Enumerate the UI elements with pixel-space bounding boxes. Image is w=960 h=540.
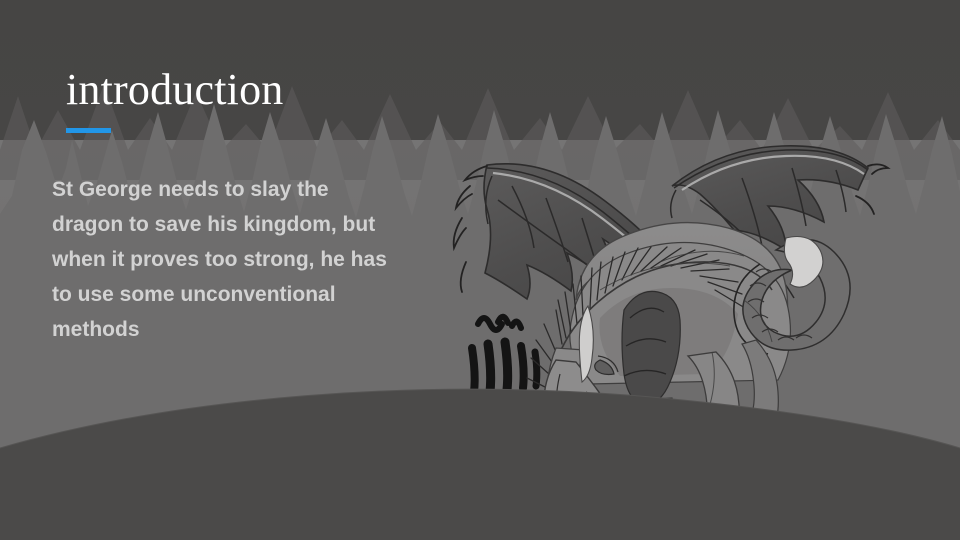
dragon-body: [526, 223, 790, 405]
sketch-scribble-marks: [472, 317, 548, 429]
rear-claws: [774, 436, 832, 464]
sketch-construction-lines: [566, 251, 772, 431]
horned-head: [544, 306, 618, 469]
dragon-legs: [514, 340, 832, 518]
horn: [579, 306, 593, 382]
page-title: introduction: [66, 64, 283, 116]
hind-claws: [626, 482, 721, 518]
spiked-mane: [526, 247, 745, 402]
tail-scales: [748, 269, 812, 340]
tail-fin: [784, 237, 823, 288]
title-accent-rule: [66, 128, 111, 133]
right-wing: [671, 146, 888, 298]
eye: [595, 360, 614, 375]
presentation-slide: introduction St George needs to slay the…: [0, 0, 960, 540]
front-claws: [514, 456, 606, 496]
curled-tail: [734, 237, 850, 355]
left-wing: [454, 164, 667, 299]
title-block: introduction: [66, 64, 283, 133]
body-paragraph: St George needs to slay the dragon to sa…: [52, 172, 400, 347]
